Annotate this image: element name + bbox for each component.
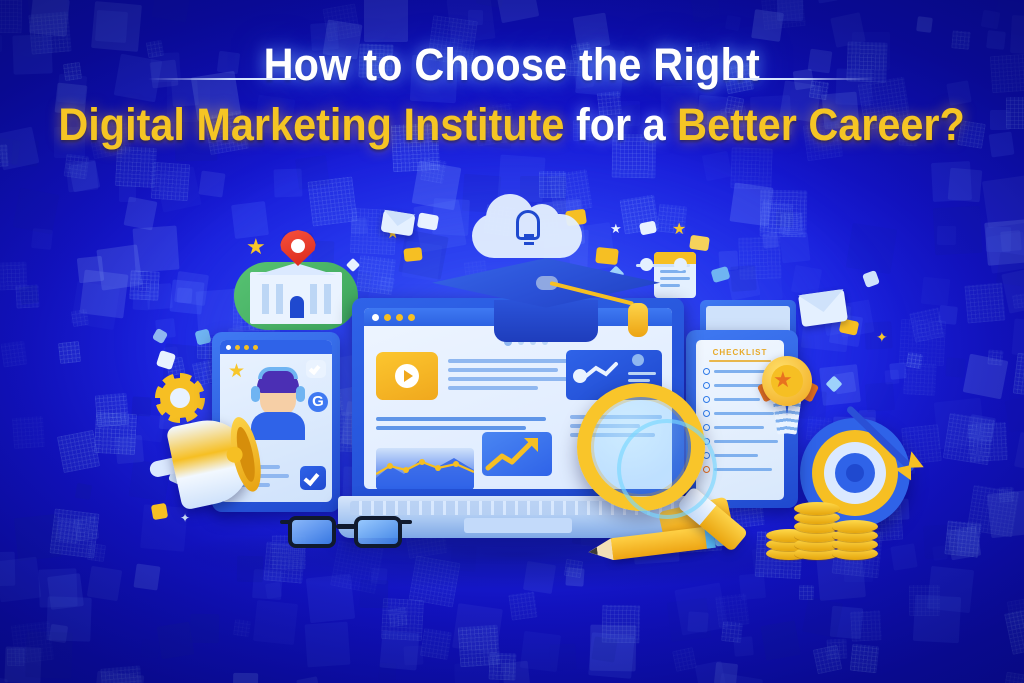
star-badge-icon: ★ xyxy=(228,362,245,381)
gear-icon xyxy=(160,378,200,418)
star-icon: ★ xyxy=(672,222,686,238)
chip-icon xyxy=(403,247,422,262)
headline-line-2: Digital Marketing Institute for a Better… xyxy=(59,100,965,150)
area-chart-svg xyxy=(376,448,474,489)
rule-right-icon xyxy=(728,78,876,80)
rule-left-icon xyxy=(148,78,296,80)
star-icon: ★ xyxy=(610,222,622,235)
graduation-cap-icon xyxy=(432,248,660,358)
headline-gold-a: Digital Marketing Institute xyxy=(59,99,565,150)
headline-white: for a xyxy=(565,99,678,150)
google-g-badge-icon: G xyxy=(308,392,328,412)
headline-line-1: How to Choose the Right xyxy=(264,40,760,90)
magnifying-glass-icon[interactable] xyxy=(565,375,750,535)
text-lines-bottom xyxy=(480,484,554,489)
chip-icon xyxy=(689,235,710,252)
star-icon: ✦ xyxy=(876,330,888,344)
growth-arrow-card xyxy=(482,432,552,476)
text-lines-top xyxy=(448,354,576,395)
trackpad[interactable] xyxy=(464,518,572,533)
gold-coins-icon xyxy=(766,498,886,560)
eyeglasses-icon xyxy=(288,512,404,556)
tablet-titlebar xyxy=(220,340,332,354)
envelope-large-icon xyxy=(798,289,848,327)
video-thumbnail[interactable] xyxy=(376,352,438,400)
award-medal-icon: ★ xyxy=(758,356,818,448)
blue-check-badge-icon xyxy=(300,466,326,490)
chip-icon xyxy=(417,212,439,230)
checkbox-badge-icon xyxy=(306,360,326,378)
banner-canvas: How to Choose the Right Digital Marketin… xyxy=(0,0,1024,683)
headline-block: How to Choose the Right Digital Marketin… xyxy=(0,40,1024,150)
envelope-small-icon xyxy=(380,210,415,237)
location-pin-icon xyxy=(280,230,316,278)
star-icon: ★ xyxy=(246,236,266,258)
area-chart xyxy=(376,448,474,489)
headline-gold-b: Better Career? xyxy=(678,99,966,150)
growth-arrow-svg xyxy=(482,432,552,476)
